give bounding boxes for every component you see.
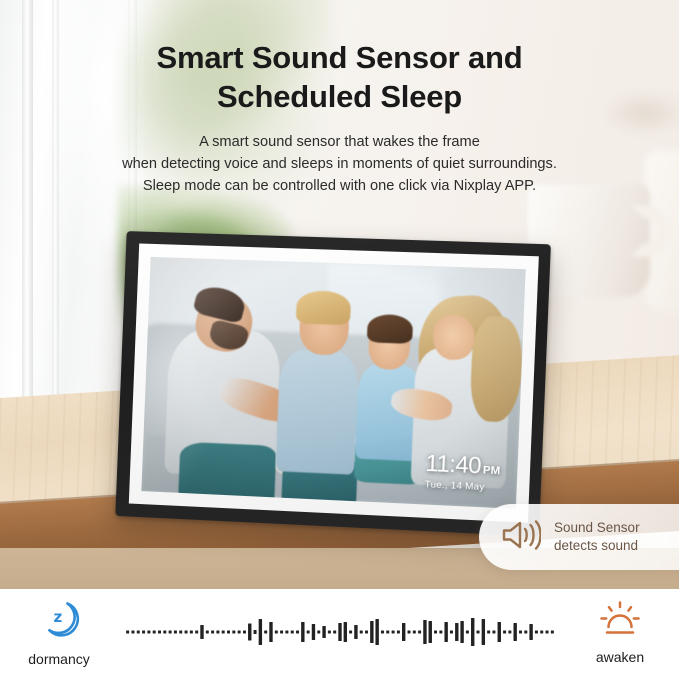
svg-text:z: z [54,608,63,626]
dormancy-item: z dormancy [0,596,118,667]
frame-mat: 11:40PM Tue., 14 May [129,243,539,522]
awaken-item: awaken [561,598,679,665]
subcopy-line-2: when detecting voice and sleeps in momen… [122,156,557,172]
dormancy-label: dormancy [0,651,118,667]
subcopy-line-1: A smart sound sensor that wakes the fram… [199,134,480,150]
frame-bezel: 11:40PM Tue., 14 May [115,231,551,537]
moon-sleep-icon: z [36,629,82,646]
headline-line-1: Smart Sound Sensor and [157,40,523,75]
badge-line-1: Sound Sensor [554,520,640,535]
digital-photo-frame: 11:40PM Tue., 14 May [121,231,535,516]
promo-page: Smart Sound Sensor and Scheduled Sleep A… [0,0,679,674]
audio-waveform [118,612,561,652]
sleep-wake-strip: z dormancy awaken [0,589,679,674]
badge-line-2: detects sound [554,537,640,555]
clock-time-value: 11:40 [425,450,482,479]
speaker-sound-icon [501,518,541,557]
frame-clock-overlay: 11:40PM Tue., 14 May [424,452,500,494]
subcopy-line-3: Sleep mode can be controlled with one cl… [143,178,536,194]
sound-sensor-badge: Sound Sensor detects sound [479,504,679,570]
awaken-label: awaken [561,649,679,665]
sunrise-icon [597,627,643,644]
hero-copy: Smart Sound Sensor and Scheduled Sleep A… [0,0,679,197]
page-title: Smart Sound Sensor and Scheduled Sleep [0,0,679,117]
sound-sensor-badge-text: Sound Sensor detects sound [554,519,640,554]
clock-meridiem: PM [483,465,501,478]
clock-time: 11:40PM [425,452,501,479]
headline-line-2: Scheduled Sleep [217,79,462,114]
hero-description: A smart sound sensor that wakes the fram… [0,131,679,198]
frame-display[interactable]: 11:40PM Tue., 14 May [141,257,525,509]
